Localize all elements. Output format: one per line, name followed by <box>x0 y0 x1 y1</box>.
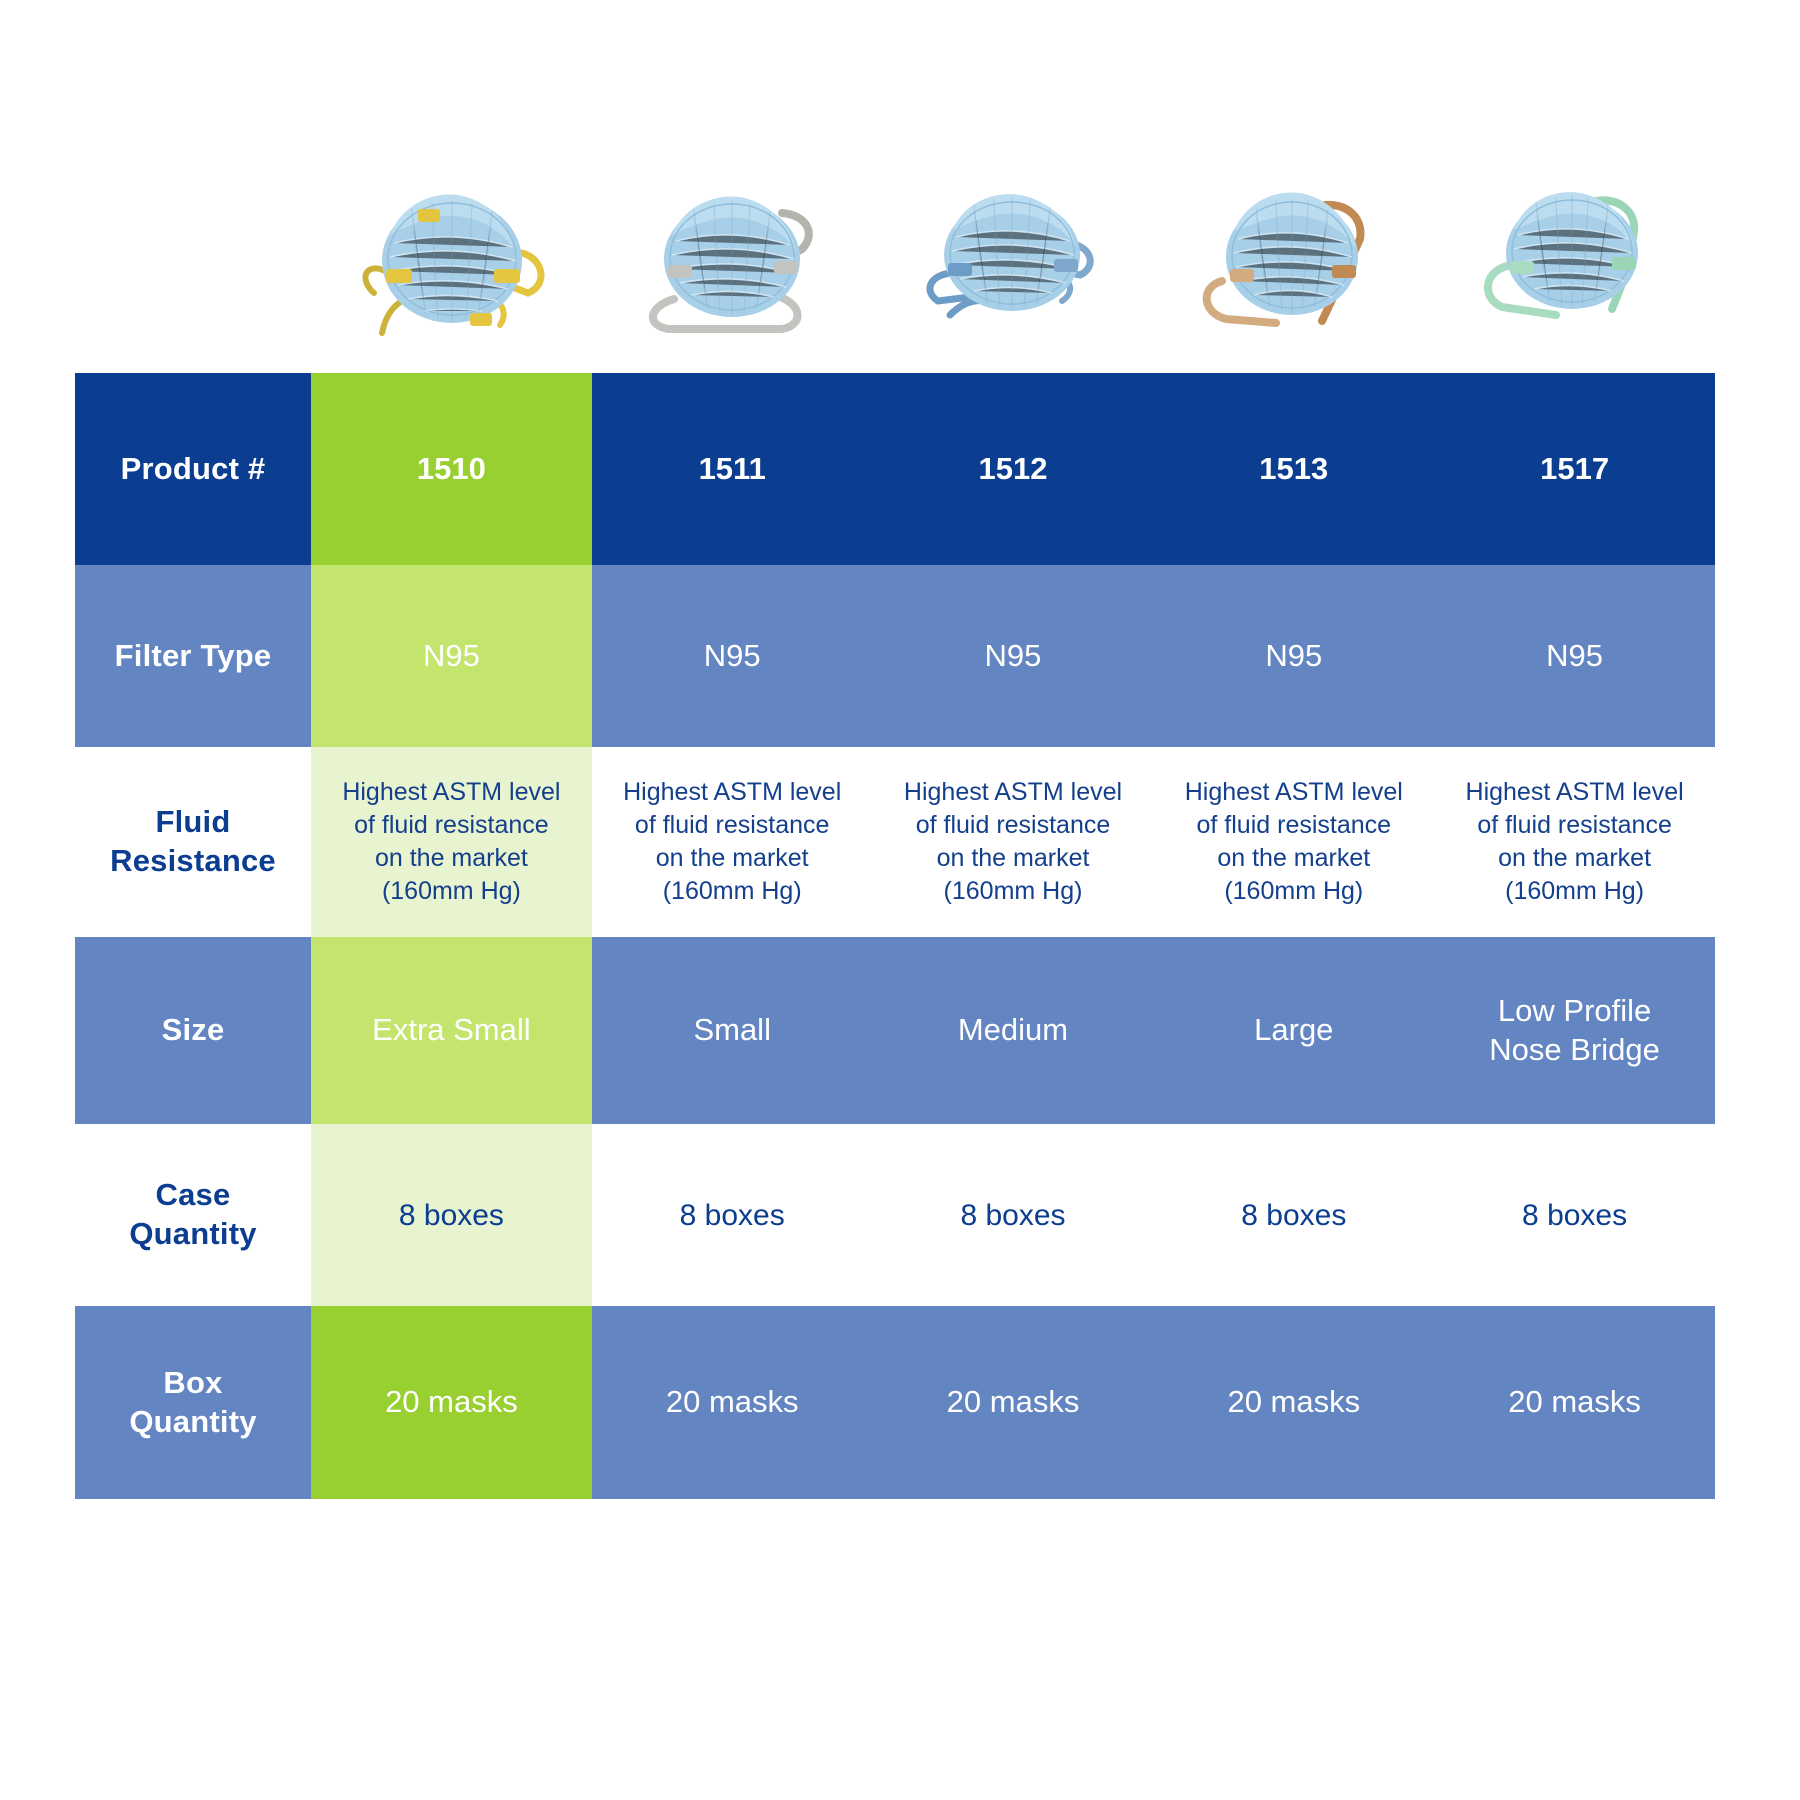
row-label-fluid-resistance: Fluid Resistance <box>75 747 311 937</box>
cell-case-quantity-1513: 8 boxes <box>1153 1124 1434 1306</box>
respirator-mask-icon <box>1192 173 1392 348</box>
table-row-product: Product # 1510 1511 1512 1513 1517 <box>75 373 1715 565</box>
cell-case-quantity-1511: 8 boxes <box>592 1124 873 1306</box>
cell-filter-type-1510: N95 <box>311 565 592 747</box>
cell-filter-type-1512: N95 <box>873 565 1154 747</box>
cell-product-1510: 1510 <box>311 373 592 565</box>
row-label-box-quantity: Box Quantity <box>75 1306 311 1499</box>
table-row-fluid-resistance: Fluid Resistance Highest ASTM level of f… <box>75 747 1715 937</box>
cell-box-quantity-1517: 20 masks <box>1434 1306 1715 1499</box>
cell-size-1510: Extra Small <box>311 937 592 1124</box>
cell-box-quantity-1511: 20 masks <box>592 1306 873 1499</box>
table-row-size: Size Extra Small Small Medium Large Low … <box>75 937 1715 1124</box>
row-label-case-quantity: Case Quantity <box>75 1124 311 1306</box>
cell-product-1517: 1517 <box>1434 373 1715 565</box>
product-comparison-page: Product # 1510 1511 1512 1513 1517 <box>0 0 1800 1800</box>
table-row-box-quantity: Box Quantity 20 masks 20 masks 20 masks … <box>75 1306 1715 1499</box>
cell-fluid-resistance-1512: Highest ASTM level of fluid resistance o… <box>873 747 1154 937</box>
product-comparison-table: Product # 1510 1511 1512 1513 1517 <box>75 373 1715 1499</box>
cell-fluid-resistance-1517: Highest ASTM level of fluid resistance o… <box>1434 747 1715 937</box>
table-row-case-quantity: Case Quantity 8 boxes 8 boxes 8 boxes 8 … <box>75 1124 1715 1306</box>
cell-filter-type-1513: N95 <box>1153 565 1434 747</box>
cell-product-1513: 1513 <box>1153 373 1434 565</box>
respirator-mask-icon <box>352 173 552 348</box>
cell-filter-type-1511: N95 <box>592 565 873 747</box>
cell-fluid-resistance-1510: Highest ASTM level of fluid resistance o… <box>311 747 592 937</box>
cell-product-1512: 1512 <box>873 373 1154 565</box>
table-row-filter-type: Filter Type N95 N95 N95 N95 N95 <box>75 565 1715 747</box>
cell-product-1511: 1511 <box>592 373 873 565</box>
cell-case-quantity-1510: 8 boxes <box>311 1124 592 1306</box>
cell-fluid-resistance-1511: Highest ASTM level of fluid resistance o… <box>592 747 873 937</box>
respirator-mask-icon <box>632 173 832 348</box>
row-label-filter-type: Filter Type <box>75 565 311 747</box>
cell-size-1512: Medium <box>873 937 1154 1124</box>
cell-fluid-resistance-1513: Highest ASTM level of fluid resistance o… <box>1153 747 1434 937</box>
product-image-1511 <box>592 145 872 375</box>
cell-case-quantity-1512: 8 boxes <box>873 1124 1154 1306</box>
cell-filter-type-1517: N95 <box>1434 565 1715 747</box>
cell-case-quantity-1517: 8 boxes <box>1434 1124 1715 1306</box>
row-label-size: Size <box>75 937 311 1124</box>
cell-box-quantity-1513: 20 masks <box>1153 1306 1434 1499</box>
row-label-product: Product # <box>75 373 311 565</box>
cell-box-quantity-1512: 20 masks <box>873 1306 1154 1499</box>
cell-box-quantity-1510: 20 masks <box>311 1306 592 1499</box>
product-image-1513 <box>1152 145 1432 375</box>
product-image-strip <box>312 145 1712 375</box>
product-image-1510 <box>312 145 592 375</box>
cell-size-1511: Small <box>592 937 873 1124</box>
respirator-mask-icon <box>912 173 1112 348</box>
product-image-1512 <box>872 145 1152 375</box>
cell-size-1513: Large <box>1153 937 1434 1124</box>
product-image-1517 <box>1432 145 1712 375</box>
respirator-mask-icon <box>1472 173 1672 348</box>
cell-size-1517: Low Profile Nose Bridge <box>1434 937 1715 1124</box>
